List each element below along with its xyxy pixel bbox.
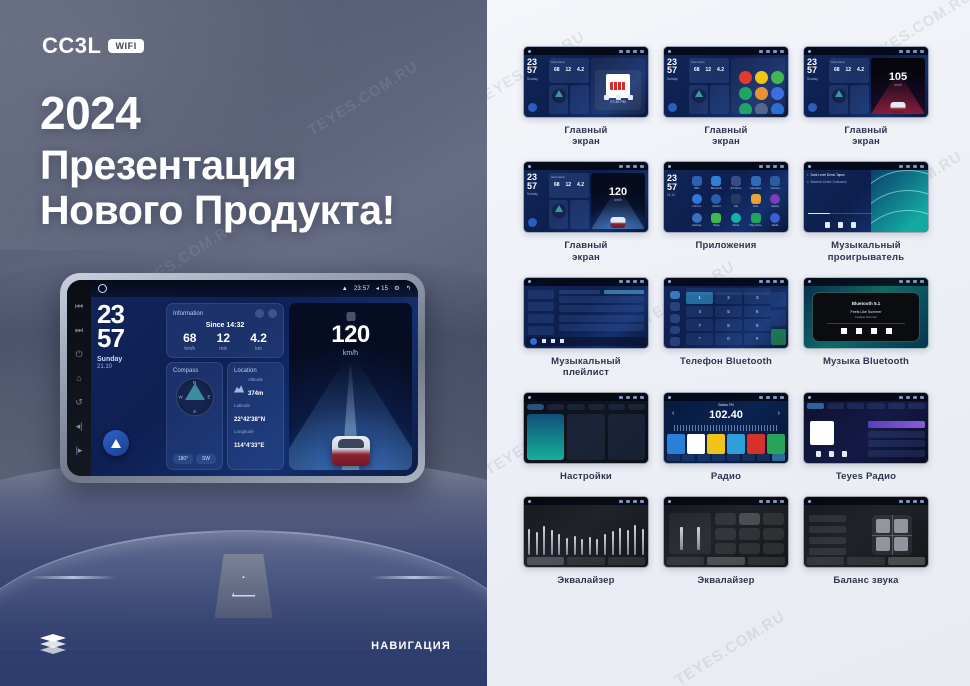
lower-widget-row: Compass N S W E 180° (166, 362, 284, 470)
stat-distance: 4.2 km (250, 332, 267, 352)
car-3d-model (332, 436, 370, 466)
grid-cell[interactable]: Эквалайзер (523, 496, 649, 586)
maps-pin-icon (711, 213, 721, 223)
speaker-rear-right (894, 537, 908, 551)
latitude-label: Latitude (234, 403, 277, 408)
volume-value: 15 (381, 286, 388, 292)
preset-2 (687, 434, 705, 454)
speed-icon (346, 312, 355, 321)
play-store-icon (751, 213, 761, 223)
sidebar-item-tracks (528, 290, 554, 299)
app-bt-music[interactable]: BT Music (727, 174, 745, 191)
back-icon[interactable]: ↺ (74, 397, 85, 408)
thumb-clock: 23 57 Sunday (527, 58, 547, 114)
folder-icon (751, 194, 761, 204)
phone-actions[interactable] (771, 292, 786, 345)
grid-cell[interactable]: 23 57 Sunday Information68124.2 (523, 46, 649, 147)
grid-cell[interactable]: 2357Sunday Information68124.2 120 km/h Г… (523, 161, 649, 262)
list-item (868, 431, 925, 438)
yandex-icon[interactable] (755, 71, 768, 84)
screenshot-teyes-radio[interactable] (803, 392, 929, 464)
stat-time: 12 min (217, 332, 230, 352)
phone-sidebar[interactable] (666, 289, 685, 346)
vent-slit (30, 576, 116, 579)
hero-panel: TEYES.COM.RU TEYES.COM.RU TEYES.COM.RU C… (0, 0, 487, 686)
progress-bar[interactable] (808, 213, 872, 215)
screenshot-home-speed-red[interactable]: 2357Sunday Information68124.2 105 km/h (803, 46, 929, 118)
navigation-fab-button[interactable] (668, 103, 677, 112)
call-log-icon (670, 326, 680, 335)
screenshot-home-music[interactable]: 23 57 Sunday Information68124.2 (523, 46, 649, 118)
radio-station-label: Station FM (664, 403, 788, 407)
navigation-arrow-icon (111, 439, 121, 448)
prev-icon (542, 339, 546, 343)
widget-cards-column: Information Since 14:32 68 (166, 303, 284, 470)
equalizer-tabs[interactable] (667, 557, 785, 565)
preset-3 (707, 434, 725, 454)
volume-down-icon[interactable]: ◂| (74, 421, 85, 432)
navigation-fab-button[interactable] (528, 103, 537, 112)
screens-grid: 23 57 Sunday Information68124.2 (523, 46, 929, 587)
progress-bar[interactable] (827, 323, 905, 324)
grid-cell[interactable]: Station FM ‹ › 102.40 (663, 392, 789, 482)
grid-cell[interactable]: 2357Sunday Information68124.2 (663, 46, 789, 147)
head-unit-device: ⏮ ⏭ ⏻ ⌂ ↺ ◂| |▸ ▲ 23:57 ◂15 (60, 273, 425, 483)
home-screen-body: 23 57 Sunday 21.10 In (91, 297, 418, 476)
cell-caption: Баланс звука (803, 575, 929, 586)
navigation-fab-button[interactable] (808, 103, 817, 112)
watermark: TEYES.COM.RU (672, 608, 788, 686)
track-title: Feels Like Summer (813, 310, 919, 314)
maps-icon[interactable] (771, 71, 784, 84)
sidebar-item-folders (528, 326, 554, 335)
grid-cell[interactable]: Bluetooth 5.1 Feels Like Summer Coldest … (803, 277, 929, 378)
play-pause-icon (856, 328, 862, 334)
tab-sound (847, 557, 884, 565)
app-chrome[interactable]: Chrome (688, 193, 706, 210)
tab-display (567, 404, 584, 410)
app-gallery[interactable]: Gallery (766, 193, 784, 210)
preset-1 (667, 434, 685, 454)
settings-tabs[interactable] (527, 404, 645, 410)
next-icon (628, 95, 633, 100)
volume-up-icon[interactable]: |▸ (74, 445, 85, 456)
mini-player-bar[interactable] (526, 337, 646, 346)
bt-music-panel: Bluetooth 5.1 Feels Like Summer Coldest … (812, 292, 920, 342)
information-card-title: Information (173, 311, 203, 317)
hero-title-line-2: Нового Продукта! (40, 187, 395, 233)
spotify-icon[interactable] (739, 87, 752, 100)
information-card-icons[interactable] (255, 309, 277, 318)
contacts-icon (670, 302, 680, 311)
thumb-app-shortcuts[interactable] (731, 58, 785, 114)
thumb-information-card: Information68124.2 (549, 58, 589, 83)
equalizer-icon (731, 194, 741, 204)
screenshot-playlist[interactable] (523, 277, 649, 349)
screenshot-settings[interactable] (523, 392, 649, 464)
card-more (608, 414, 645, 460)
gear-icon (692, 213, 702, 223)
table-row (559, 296, 644, 303)
screenshot-home-speed[interactable]: 2357Sunday Information68124.2 120 km/h (523, 161, 649, 233)
thumb-compass-card (549, 85, 568, 114)
table-row (559, 315, 644, 322)
stat-unit: km/h (183, 346, 196, 352)
track-artist: Coldest Summer (813, 315, 919, 319)
gallery-icon (770, 194, 780, 204)
player-controls[interactable] (808, 451, 855, 457)
chrome-icon (692, 194, 702, 204)
clock-widget: 23 57 Sunday 21.10 (97, 303, 161, 470)
settings-icon[interactable] (771, 103, 784, 114)
settings-icon (670, 337, 680, 346)
home-circle-icon[interactable] (98, 284, 107, 293)
grid-cell[interactable]: 2357Sunday Information68124.2 105 km/h Г… (803, 46, 929, 147)
information-card[interactable]: Information Since 14:32 68 (166, 303, 284, 358)
longitude-label: Longitude (234, 429, 277, 434)
longitude-row: Longitude 114°4'33"E (234, 429, 277, 452)
cell-caption: Эквалайзер (523, 575, 649, 586)
player-time: 07:30 PM (595, 100, 641, 104)
dial-key-9: 9 (744, 319, 771, 331)
dial-key-star: * (686, 333, 713, 345)
tab-sound (567, 557, 604, 565)
list-item (868, 421, 925, 428)
dialpad-icon (670, 291, 680, 300)
tab-wifi (527, 404, 544, 410)
cell-caption: Главныйэкран (803, 125, 929, 147)
player-controls[interactable] (808, 222, 872, 228)
bluetooth-version-label: Bluetooth 5.1 (813, 301, 919, 306)
speed-value: 120 (289, 323, 412, 347)
grid-cell[interactable]: 1Dark Level Demo Tapes 2Balance Drake Go… (803, 161, 929, 262)
list-item (868, 450, 925, 457)
dial-key-3: 3 (744, 292, 771, 304)
compass-card[interactable]: Compass N S W E 180° (166, 362, 223, 470)
card-wifi (527, 414, 564, 460)
status-bar-right: ▲ 23:57 ◂15 ⚙ ↰ (342, 285, 411, 292)
grid-cell[interactable]: Эквалайзер (663, 496, 789, 586)
hero-title-line-1: Презентация (40, 142, 296, 188)
teyes-radio-tabs[interactable] (807, 403, 925, 409)
playlist-tabs[interactable] (559, 290, 644, 294)
next-icon (886, 328, 892, 334)
stop-icon (871, 328, 877, 334)
expand-icon[interactable] (268, 309, 277, 318)
next-icon (842, 451, 847, 457)
grid-cell[interactable]: Баланс звука (803, 496, 929, 586)
radio-icon (770, 213, 780, 223)
screenshot-equalizer-presets[interactable] (663, 496, 789, 568)
radio-toolbar[interactable] (667, 454, 785, 461)
list-item: 1Dark Level Demo Tapes (807, 173, 871, 177)
compass-beam-icon (185, 383, 205, 400)
screenshot-apps[interactable]: 2357 21.10 WiFi Bluetooth BT Music Calcu… (663, 161, 789, 233)
clock-day: Sunday (97, 356, 161, 363)
compass-pills: 180° SW (173, 454, 216, 464)
screenshot-sound-balance[interactable] (803, 496, 929, 568)
tab-sound (547, 404, 564, 410)
mail-icon[interactable] (771, 87, 784, 100)
speaker-front-left (876, 519, 890, 533)
camera-icon (770, 176, 780, 186)
stat-speed: 68 km/h (183, 332, 196, 352)
app-drawer[interactable]: WiFi Bluetooth BT Music Calculator Camer… (686, 172, 786, 230)
status-time: 23:57 (354, 286, 370, 292)
grid-cell[interactable]: Музыкальныйплейлист (523, 277, 649, 378)
location-card-title: Location (234, 368, 257, 374)
tab-fade (888, 557, 925, 565)
thumb-status-bar (524, 47, 648, 55)
now-playing-list[interactable]: 1Dark Level Demo Tapes 2Balance Drake Go… (807, 173, 871, 187)
wifi-icon (692, 176, 702, 186)
prev-icon (825, 222, 830, 228)
tab-sound (707, 557, 744, 565)
station-list[interactable] (868, 421, 925, 459)
cell-caption: Музыкальныйплейлист (523, 356, 649, 378)
status-bar: ▲ 23:57 ◂15 ⚙ ↰ (91, 280, 418, 297)
dial-key-hash: # (744, 333, 771, 345)
table-row (559, 305, 644, 312)
radio-presets[interactable] (667, 434, 785, 454)
preset-pop (715, 513, 736, 525)
stop-icon (616, 95, 621, 100)
pause-icon (838, 222, 843, 228)
location-card[interactable]: Location Altitude 374m (227, 362, 284, 470)
compass-s: S (193, 409, 196, 414)
cell-caption: Радио (663, 471, 789, 482)
sidebar-item-artists (528, 302, 554, 311)
stat-value: 12 (217, 332, 230, 344)
frequency-scale[interactable] (674, 425, 778, 431)
cell-caption: Главныйэкран (523, 125, 649, 147)
speaker-rear-left (876, 537, 890, 551)
head-unit-screen[interactable]: ▲ 23:57 ◂15 ⚙ ↰ 23 57 Sunday (91, 280, 418, 476)
thumb-music-widget[interactable]: 07:30 PM (591, 58, 645, 114)
cell-caption: Главныйэкран (663, 125, 789, 147)
app-settings[interactable]: Settings (688, 212, 706, 229)
altitude-row: Altitude 374m (234, 377, 277, 400)
thumb-location-card (570, 85, 589, 114)
dial-key-7: 7 (686, 319, 713, 331)
thumb-speed-widget[interactable]: 105 km/h (871, 58, 925, 114)
bluetooth-icon (711, 176, 721, 186)
next-track-icon[interactable]: ⏭ (74, 325, 85, 336)
player-controls[interactable] (813, 328, 919, 334)
refresh-icon[interactable] (255, 309, 264, 318)
settings-cards[interactable] (527, 414, 645, 460)
preset-5 (747, 434, 765, 454)
equalizer-tabs[interactable] (807, 557, 925, 565)
album-art (810, 421, 834, 445)
dial-key-2: 2 (715, 292, 742, 304)
app-bluetooth[interactable]: Bluetooth (708, 174, 726, 191)
product-logo: CC3L WIFI (42, 33, 144, 59)
tab-eq (667, 557, 704, 565)
stat-value: 68 (183, 332, 196, 344)
thumb-speed-widget[interactable]: 120 km/h (591, 173, 645, 229)
screenshot-equalizer-bands[interactable] (523, 496, 649, 568)
list-item: 2Balance Drake Goldwave (807, 180, 871, 184)
screenshot-radio[interactable]: Station FM ‹ › 102.40 (663, 392, 789, 464)
gear-icon[interactable]: ⚙ (394, 285, 400, 292)
cell-caption: Музыкальныйпроигрыватель (803, 240, 929, 262)
mountain-icon (234, 385, 244, 393)
preset-rock (763, 513, 784, 525)
longitude-value: 114°4'33"E (234, 443, 264, 449)
information-card-header: Information (173, 309, 277, 318)
preset-dance (763, 528, 784, 540)
cell-caption: Музыка Bluetooth (803, 356, 929, 367)
radio-frequency: 102.40 (664, 409, 788, 421)
navigation-fab-button[interactable] (103, 430, 129, 456)
favorite-icon (771, 292, 786, 308)
compass-heading-pill: 180° (173, 454, 193, 464)
app-filemanager[interactable]: Files (747, 193, 765, 210)
tab-eq (807, 557, 844, 565)
files-icon[interactable] (755, 87, 768, 100)
dial-key-8: 8 (715, 319, 742, 331)
speed-unit: km/h (289, 350, 412, 357)
equalizer-tabs[interactable] (527, 557, 645, 565)
prev-icon (841, 328, 847, 334)
page-title: 2024 Презентация Нового Продукта! (40, 88, 395, 233)
app-control[interactable]: Control (708, 193, 726, 210)
head-unit-side-rail[interactable]: ⏮ ⏭ ⏻ ⌂ ↺ ◂| |▸ (67, 280, 91, 476)
compass-e: E (207, 395, 210, 400)
pause-icon (551, 339, 555, 343)
dial-key-5: 5 (715, 306, 742, 318)
list-item (868, 440, 925, 447)
card-traffic (567, 414, 604, 460)
screenshot-bt-music[interactable]: Bluetooth 5.1 Feels Like Summer Coldest … (803, 277, 929, 349)
back-arrow-icon[interactable]: ↰ (406, 285, 411, 292)
tab-fade (608, 557, 645, 565)
screenshot-music-player[interactable]: 1Dark Level Demo Tapes 2Balance Drake Go… (803, 161, 929, 233)
prev-icon (604, 95, 609, 100)
balance-pad[interactable] (872, 515, 912, 555)
waveform-visual (871, 170, 928, 232)
since-label: Since 14:32 (173, 322, 277, 329)
youtube-icon[interactable] (739, 71, 752, 84)
grid-cell[interactable]: Teyes Радио (803, 392, 929, 482)
cell-caption: Эквалайзер (663, 575, 789, 586)
next-icon (851, 222, 856, 228)
compass-w: W (179, 395, 183, 400)
control-icon (711, 194, 721, 204)
power-icon[interactable]: ⏻ (74, 349, 85, 360)
app-music-player[interactable]: Music (727, 212, 745, 229)
app-calculator[interactable]: Calculator (747, 174, 765, 191)
music-player-icon (731, 213, 741, 223)
thumb-clock-day: Sunday (527, 77, 547, 81)
stat-value: 4.2 (250, 332, 267, 344)
head-unit-inner: ⏮ ⏭ ⏻ ⌂ ↺ ◂| |▸ ▲ 23:57 ◂15 (67, 280, 418, 476)
navigation-label: НАВИГАЦИЯ (371, 640, 451, 652)
preset-grid[interactable] (715, 513, 784, 554)
dialpad[interactable]: 123 456 789 *0# (686, 292, 770, 345)
balance-options[interactable] (809, 515, 846, 559)
balance-sliders[interactable] (669, 513, 711, 554)
cell-caption: Главныйэкран (523, 240, 649, 262)
trip-stats: 68 km/h 12 min 4.2 km (173, 332, 277, 352)
app-maps[interactable]: Maps (708, 212, 726, 229)
app-radio[interactable]: Radio (766, 212, 784, 229)
compass-dial: N S W E (176, 378, 214, 416)
preset-flat (739, 543, 760, 555)
screenshot-home-apps[interactable]: 2357Sunday Information68124.2 (663, 46, 789, 118)
altitude-label: Altitude (248, 377, 263, 382)
tab-apps (588, 404, 605, 410)
cell-caption: Настройки (523, 471, 649, 482)
grid-cell[interactable]: 123 456 789 *0# Телефон Bluetooth (663, 277, 789, 378)
app-play-store[interactable]: Play Store (747, 212, 765, 229)
sidebar-item-albums (528, 314, 554, 323)
dial-key-0: 0 (715, 333, 742, 345)
stat-unit: min (217, 346, 230, 352)
stop-icon (829, 451, 834, 457)
speed-widget[interactable]: 120 km/h (289, 303, 412, 470)
preset-jazz (715, 528, 736, 540)
home-icon[interactable]: ⌂ (74, 373, 85, 384)
hero-footer: НАВИГАЦИЯ (0, 616, 487, 686)
wifi-icon: ▲ (342, 286, 348, 292)
speaker-front-right (894, 519, 908, 533)
compass-direction-pill: SW (196, 454, 216, 464)
preset-vocal (739, 528, 760, 540)
clock-minutes: 57 (97, 327, 161, 351)
preset-classic (739, 513, 760, 525)
playlist-main[interactable] (557, 288, 646, 337)
navigation-fab-button[interactable] (528, 218, 537, 227)
calculator-icon (751, 176, 761, 186)
prev-track-icon[interactable]: ⏮ (74, 301, 85, 312)
apps-grid-icon[interactable] (755, 103, 768, 114)
altitude-value: 374m (248, 391, 263, 397)
call-button-icon (771, 329, 786, 345)
screenshot-bt-phone[interactable]: 123 456 789 *0# (663, 277, 789, 349)
cell-caption: Телефон Bluetooth (663, 356, 789, 367)
prev-icon (816, 451, 821, 457)
dial-key-1: 1 (686, 292, 713, 304)
preset-6 (767, 434, 785, 454)
app-camera[interactable]: Camera (766, 174, 784, 191)
cell-caption: Teyes Радио (803, 471, 929, 482)
app-wifi[interactable]: WiFi (688, 174, 706, 191)
tab-fade (748, 557, 785, 565)
thumb-clock-m: 57 (527, 66, 547, 74)
stat-unit: km (250, 346, 267, 352)
volume-indicator: ◂15 (376, 285, 388, 292)
tab-system (628, 404, 645, 410)
preset-bass (715, 543, 736, 555)
vent-slit (371, 576, 457, 579)
grid-cell[interactable]: 2357 21.10 WiFi Bluetooth BT Music Calcu… (663, 161, 789, 262)
player-controls[interactable] (595, 95, 641, 100)
hero-year: 2024 (40, 88, 395, 139)
compass-card-title: Compass (173, 368, 198, 374)
grid-cell[interactable]: Настройки (523, 392, 649, 482)
equalizer-sliders[interactable] (528, 513, 644, 555)
music-note-icon (731, 176, 741, 186)
hazard-lights-button[interactable] (215, 554, 273, 618)
album-art (530, 338, 537, 345)
dial-key-6: 6 (744, 306, 771, 318)
playlist-sidebar[interactable] (526, 288, 556, 337)
play-store-icon[interactable] (739, 103, 752, 114)
app-equalizer[interactable]: EQ (727, 193, 745, 210)
tab-personal (608, 404, 625, 410)
